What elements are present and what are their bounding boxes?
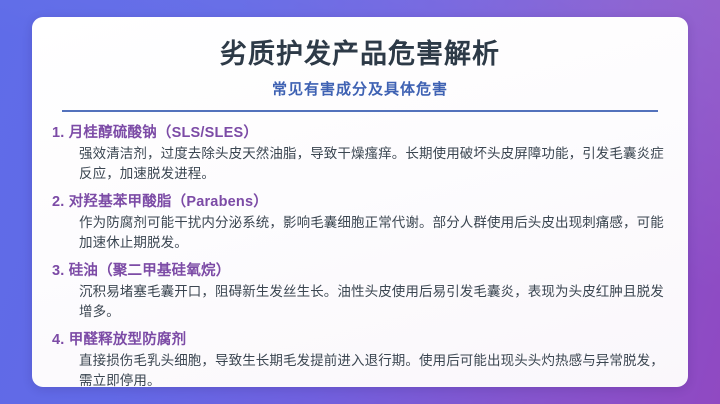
item-heading-text: 硅油（聚二甲基硅氧烷） (69, 263, 231, 279)
list-item: 2. 对羟基苯甲酸脂（Parabens） 作为防腐剂可能干扰内分泌系统，影响毛囊… (52, 192, 668, 253)
item-heading-text: 甲醛释放型防腐剂 (69, 332, 187, 348)
item-body: 强效清洁剂，过度去除头皮天然油脂，导致干燥瘙痒。长期使用破坏头皮屏障功能，引发毛… (52, 144, 668, 184)
list-item: 4. 甲醛释放型防腐剂 直接损伤毛乳头细胞，导致生长期毛发提前进入退行期。使用后… (52, 330, 668, 391)
item-body: 沉积易堵塞毛囊开口，阻碍新生发丝生长。油性头皮使用后易引发毛囊炎，表现为头皮红肿… (52, 282, 668, 322)
list-item: 3. 硅油（聚二甲基硅氧烷） 沉积易堵塞毛囊开口，阻碍新生发丝生长。油性头皮使用… (52, 261, 668, 322)
item-heading-text: 对羟基苯甲酸脂（Parabens） (69, 194, 268, 210)
item-body: 作为防腐剂可能干扰内分泌系统，影响毛囊细胞正常代谢。部分人群使用后头皮出现刺痛感… (52, 213, 668, 253)
item-number: 2. (52, 194, 65, 210)
item-number: 1. (52, 125, 65, 141)
header-divider (62, 110, 658, 112)
item-heading: 3. 硅油（聚二甲基硅氧烷） (52, 261, 668, 281)
page-subtitle: 常见有害成分及具体危害 (52, 79, 668, 101)
item-heading: 2. 对羟基苯甲酸脂（Parabens） (52, 192, 668, 212)
item-heading: 1. 月桂醇硫酸钠（SLS/SLES） (52, 123, 668, 143)
item-heading-text: 月桂醇硫酸钠（SLS/SLES） (69, 125, 258, 141)
item-number: 4. (52, 332, 65, 348)
content-card: 劣质护发产品危害解析 常见有害成分及具体危害 1. 月桂醇硫酸钠（SLS/SLE… (32, 17, 688, 387)
harmful-ingredients-list: 1. 月桂醇硫酸钠（SLS/SLES） 强效清洁剂，过度去除头皮天然油脂，导致干… (52, 123, 668, 391)
list-item: 1. 月桂醇硫酸钠（SLS/SLES） 强效清洁剂，过度去除头皮天然油脂，导致干… (52, 123, 668, 184)
item-number: 3. (52, 263, 65, 279)
item-heading: 4. 甲醛释放型防腐剂 (52, 330, 668, 350)
poster-background: 劣质护发产品危害解析 常见有害成分及具体危害 1. 月桂醇硫酸钠（SLS/SLE… (0, 0, 720, 404)
page-title: 劣质护发产品危害解析 (52, 37, 668, 71)
item-body: 直接损伤毛乳头细胞，导致生长期毛发提前进入退行期。使用后可能出现头头灼热感与异常… (52, 351, 668, 391)
